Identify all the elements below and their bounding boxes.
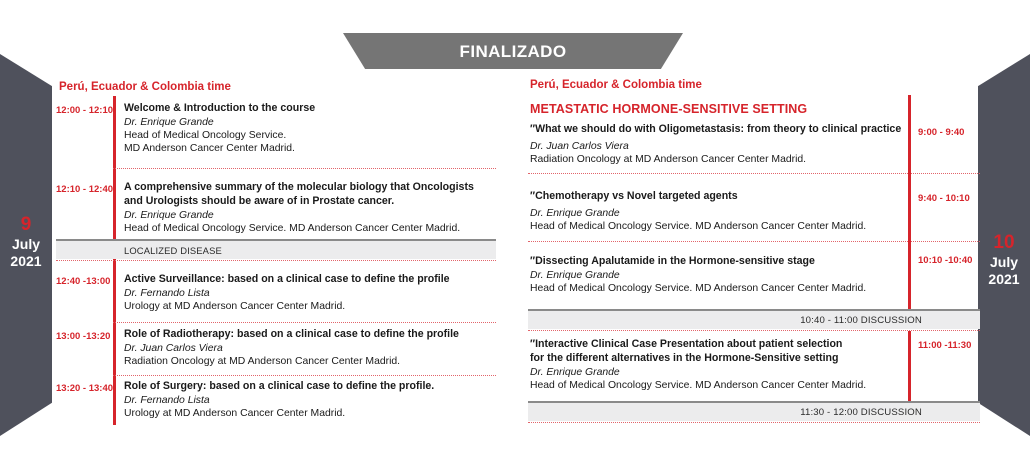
day-tab-right-day: 10: [993, 233, 1014, 254]
right-timeline-rail: [908, 95, 911, 309]
session-title-2: for the different alternatives in the Ho…: [530, 352, 902, 365]
session-body: Welcome & Introduction to the course Dr.…: [124, 102, 496, 155]
session-speaker: Dr. Juan Carlos Viera: [530, 140, 902, 153]
row-divider: [113, 375, 496, 376]
session-title: Role of Radiotherapy: based on a clinica…: [124, 328, 504, 341]
discussion-band-1: 10:40 - 11:00 DISCUSSION: [528, 309, 980, 329]
session-time: 9:40 - 10:10: [918, 193, 970, 204]
session-body: ″Dissecting Apalutamide in the Hormone-s…: [530, 255, 902, 295]
session-speaker: Dr. Enrique Grande: [530, 269, 902, 282]
session-affiliation: Head of Medical Oncology Service. MD And…: [124, 222, 504, 235]
session-time: 13:00 -13:20: [56, 331, 106, 342]
left-timezone-heading: Perú, Ecuador & Colombia time: [59, 81, 231, 93]
session-speaker: Dr. Enrique Grande: [124, 209, 504, 222]
discussion-band-2-label: 11:30 - 12:00 DISCUSSION: [800, 407, 980, 418]
session-time: 10:10 -10:40: [918, 255, 972, 266]
status-banner: FINALIZADO: [343, 33, 683, 69]
session-body: Active Surveillance: based on a clinical…: [124, 273, 504, 313]
session-title: ″Chemotherapy vs Novel targeted agents: [530, 190, 902, 203]
status-banner-label: FINALIZADO: [460, 42, 567, 60]
day-tab-left-day: 9: [21, 215, 32, 236]
day-tab-left-inner: 9 July 2021: [10, 215, 41, 271]
session-title: Active Surveillance: based on a clinical…: [124, 273, 504, 286]
session-speaker: Dr. Enrique Grande: [530, 207, 902, 220]
agenda-page: FINALIZADO 9 July 2021 10 July 2021 Perú…: [0, 0, 1030, 450]
session-affiliation: Urology at MD Anderson Cancer Center Mad…: [124, 300, 504, 313]
row-divider: [113, 168, 496, 169]
session-time: 12:40 -13:00: [56, 276, 106, 287]
session-time: 13:20 - 13:40: [56, 383, 106, 394]
day-tab-right[interactable]: 10 July 2021: [978, 54, 1030, 436]
discussion-band-2: 11:30 - 12:00 DISCUSSION: [528, 401, 980, 421]
session-title: Welcome & Introduction to the course: [124, 102, 496, 115]
session-title: ″What we should do with Oligometastasis:…: [530, 123, 902, 136]
day-tab-left-month: July: [12, 236, 40, 254]
session-title: Role of Surgery: based on a clinical cas…: [124, 380, 504, 393]
day-tab-right-year: 2021: [988, 271, 1019, 289]
row-divider: [528, 330, 980, 331]
session-speaker: Dr. Fernando Lista: [124, 287, 504, 300]
session-body: Role of Radiotherapy: based on a clinica…: [124, 328, 504, 368]
day-tab-right-inner: 10 July 2021: [988, 233, 1019, 289]
discussion-band-1-label: 10:40 - 11:00 DISCUSSION: [800, 315, 980, 326]
session-title: ″Interactive Clinical Case Presentation …: [530, 338, 902, 351]
session-speaker: Dr. Juan Carlos Viera: [124, 342, 504, 355]
session-affiliation: Head of Medical Oncology Service.: [124, 129, 496, 142]
row-divider: [113, 322, 496, 323]
session-time: 12:00 - 12:10: [56, 105, 106, 116]
row-divider: [528, 241, 980, 242]
session-affiliation: Radiation Oncology at MD Anderson Cancer…: [530, 153, 902, 166]
session-title: ″Dissecting Apalutamide in the Hormone-s…: [530, 255, 902, 268]
right-timeline-rail-2: [908, 331, 911, 401]
session-affiliation: Head of Medical Oncology Service. MD And…: [530, 282, 902, 295]
session-time: 9:00 - 9:40: [918, 127, 964, 138]
day-tab-left[interactable]: 9 July 2021: [0, 54, 52, 436]
session-title: A comprehensive summary of the molecular…: [124, 181, 504, 194]
row-divider: [528, 422, 980, 423]
session-speaker: Dr. Enrique Grande: [124, 116, 496, 129]
session-speaker: Dr. Fernando Lista: [124, 394, 504, 407]
row-divider: [56, 260, 496, 261]
right-section-title: METASTATIC HORMONE-SENSITIVE SETTING: [530, 102, 807, 116]
day-tab-right-month: July: [990, 254, 1018, 272]
session-title-2: and Urologists should be aware of in Pro…: [124, 195, 504, 208]
session-affiliation: Urology at MD Anderson Cancer Center Mad…: [124, 407, 504, 420]
session-affiliation-2: MD Anderson Cancer Center Madrid.: [124, 142, 496, 155]
session-time: 12:10 - 12:40: [56, 184, 106, 195]
session-speaker: Dr. Enrique Grande: [530, 366, 902, 379]
session-body: ″What we should do with Oligometastasis:…: [530, 123, 902, 166]
session-affiliation: Head of Medical Oncology Service. MD And…: [530, 220, 902, 233]
session-body: ″Interactive Clinical Case Presentation …: [530, 338, 902, 392]
session-affiliation: Radiation Oncology at MD Anderson Cancer…: [124, 355, 504, 368]
session-body: ″Chemotherapy vs Novel targeted agents D…: [530, 190, 902, 233]
day-tab-left-year: 2021: [10, 253, 41, 271]
session-time: 11:00 -11:30: [918, 340, 971, 351]
section-band-localized-disease: LOCALIZED DISEASE: [56, 239, 496, 259]
section-band-label: LOCALIZED DISEASE: [56, 245, 222, 256]
right-timezone-heading: Perú, Ecuador & Colombia time: [530, 79, 702, 91]
row-divider: [528, 173, 980, 174]
session-body: Role of Surgery: based on a clinical cas…: [124, 380, 504, 420]
session-body: A comprehensive summary of the molecular…: [124, 181, 504, 235]
session-affiliation: Head of Medical Oncology Service. MD And…: [530, 379, 902, 392]
